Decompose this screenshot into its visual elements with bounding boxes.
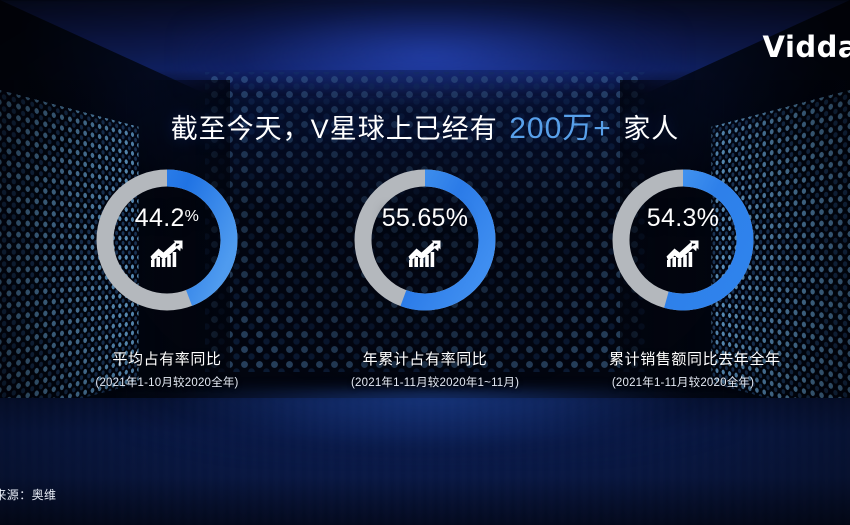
stat-value-2: 55.65% (382, 206, 469, 231)
floor-glow (120, 390, 740, 460)
caption-2: 年累计占有率同比 (2021年1-11月较2020年1~11月) (351, 348, 499, 390)
trending-up-bar-icon (149, 240, 185, 268)
donut-chart-row: 44.2% (0, 167, 850, 313)
data-source-note: 据来源：奥维 (0, 486, 56, 503)
trending-up-bar-icon (407, 240, 443, 268)
caption-title-3: 累计销售额同比去年全年 (609, 348, 757, 369)
stat-number-1: 44.2 (135, 204, 185, 232)
headline-prefix: 截至今天，V星球上已经有 (171, 114, 498, 144)
brand-logo: Vidda (763, 30, 850, 64)
headline-accent-number: 200万+ (506, 112, 615, 145)
slide-canvas: Vidda 截至今天，V星球上已经有 200万+ 家人 (0, 0, 850, 525)
stat-unit-3: % (697, 204, 720, 232)
stat-unit-1: % (185, 208, 200, 225)
caption-title-1: 平均占有率同比 (93, 348, 241, 369)
caption-3: 累计销售额同比去年全年 (2021年1-11月较2020全年) (609, 348, 757, 390)
donut-chart-1: 44.2% (94, 167, 240, 313)
stat-card: 44.2% (93, 167, 241, 313)
caption-sub-3: (2021年1-11月较2020全年) (609, 374, 757, 390)
stat-value-3: 54.3% (647, 206, 719, 231)
stat-card: 55.65% (351, 167, 499, 313)
donut-chart-3: 54.3% (610, 167, 756, 313)
headline-suffix: 家人 (623, 114, 679, 144)
stat-unit-2: % (446, 204, 469, 232)
caption-row: 平均占有率同比 (2021年1-10月较2020全年) 年累计占有率同比 (20… (0, 348, 850, 390)
donut-chart-2: 55.65% (352, 167, 498, 313)
donut-center-1: 44.2% (94, 167, 240, 313)
page-title: 截至今天，V星球上已经有 200万+ 家人 (0, 103, 850, 147)
donut-center-2: 55.65% (352, 167, 498, 313)
stat-number-2: 55.65 (382, 204, 446, 232)
stat-card: 54.3% (609, 167, 757, 313)
caption-title-2: 年累计占有率同比 (351, 348, 499, 369)
stat-value-1: 44.2% (135, 206, 199, 231)
caption-1: 平均占有率同比 (2021年1-10月较2020全年) (93, 348, 241, 390)
stat-number-3: 54.3 (647, 204, 697, 232)
caption-sub-2: (2021年1-11月较2020年1~11月) (351, 374, 499, 390)
donut-center-3: 54.3% (610, 167, 756, 313)
caption-sub-1: (2021年1-10月较2020全年) (93, 374, 241, 390)
trending-up-bar-icon (665, 240, 701, 268)
